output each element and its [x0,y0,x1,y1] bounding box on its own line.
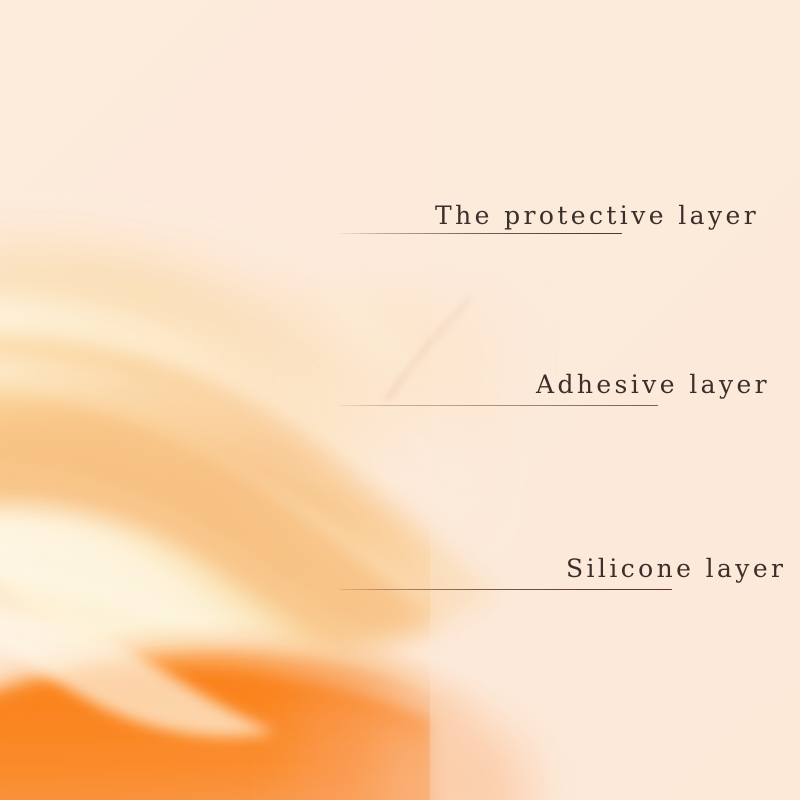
callout-adhesive-layer: Adhesive layer [340,372,770,406]
callout-leader-line-adhesive-layer [340,405,658,406]
product-layer-diagram: The protective layer Adhesive layer Sili… [0,0,800,800]
callout-protective-layer: The protective layer [340,203,759,234]
callout-label-silicone-layer: Silicone layer [566,556,786,581]
callout-label-adhesive-layer: Adhesive layer [536,372,770,397]
callout-leader-line-silicone-layer [340,589,672,590]
callout-silicone-layer: Silicone layer [340,556,786,590]
callout-leader-line-protective-layer [340,233,622,234]
callout-label-protective-layer: The protective layer [435,203,759,228]
